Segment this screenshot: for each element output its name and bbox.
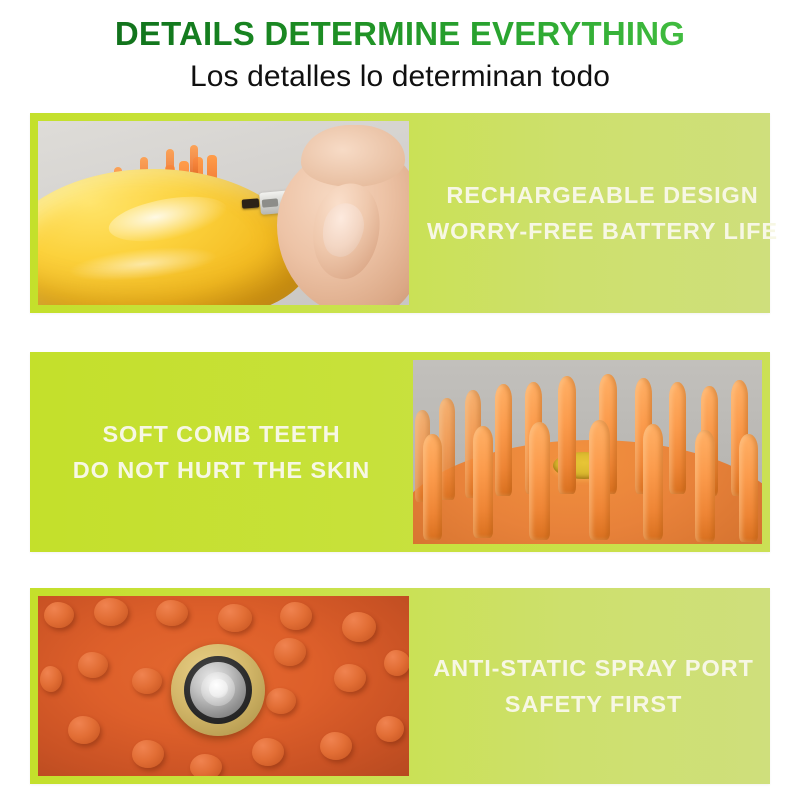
feature-panel-spray-port: ANTI-STATIC SPRAY PORT SAFETY FIRST — [30, 588, 770, 784]
comb-tooth — [739, 434, 758, 542]
silicone-nub — [266, 688, 296, 714]
silicone-nub — [384, 650, 409, 676]
silicone-nub — [132, 740, 164, 768]
silicone-nub — [132, 668, 162, 694]
silicone-nub — [334, 664, 366, 692]
caption-line: SAFETY FIRST — [505, 686, 683, 722]
caption-soft-teeth: SOFT COMB TEETH DO NOT HURT THE SKIN — [30, 352, 413, 552]
caption-line: DO NOT HURT THE SKIN — [73, 452, 370, 488]
silicone-nub — [376, 716, 404, 742]
silicone-nub — [94, 598, 128, 626]
comb-tooth — [529, 422, 550, 540]
caption-spray-port: ANTI-STATIC SPRAY PORT SAFETY FIRST — [417, 588, 770, 784]
caption-line: RECHARGEABLE DESIGN — [446, 177, 758, 213]
silicone-nub — [342, 612, 376, 642]
caption-rechargeable: RECHARGEABLE DESIGN WORRY-FREE BATTERY L… — [417, 113, 788, 313]
comb-tooth — [473, 426, 493, 538]
comb-tooth — [589, 420, 610, 540]
photo-usb-charging — [38, 121, 409, 305]
silicone-nub — [44, 602, 74, 628]
finger — [301, 125, 405, 187]
silicone-nub — [218, 604, 252, 632]
page-title: DETAILS DETERMINE EVERYTHING — [0, 14, 800, 54]
product-infographic: DETAILS DETERMINE EVERYTHING Los detalle… — [0, 0, 800, 800]
spray-nozzle-hole — [209, 679, 228, 698]
caption-line: SOFT COMB TEETH — [102, 416, 340, 452]
usb-charging-port — [242, 198, 260, 208]
caption-line: ANTI-STATIC SPRAY PORT — [433, 650, 754, 686]
silicone-nub — [78, 652, 108, 678]
comb-tooth — [695, 430, 715, 542]
silicone-nub — [68, 716, 100, 744]
comb-tooth — [423, 434, 442, 540]
silicone-nub — [280, 602, 312, 630]
silicone-nub — [190, 754, 222, 776]
silicone-nub — [252, 738, 284, 766]
comb-tooth — [495, 384, 512, 496]
header: DETAILS DETERMINE EVERYTHING Los detalle… — [0, 0, 800, 97]
photo-spray-port — [38, 596, 409, 776]
feature-panel-rechargeable: RECHARGEABLE DESIGN WORRY-FREE BATTERY L… — [30, 113, 770, 313]
photo-comb-teeth — [413, 360, 762, 544]
comb-tooth — [558, 376, 576, 494]
silicone-nub — [40, 666, 62, 692]
caption-line: WORRY-FREE BATTERY LIFE — [427, 213, 778, 249]
silicone-nub — [156, 600, 188, 626]
comb-tooth — [643, 424, 663, 540]
silicone-nub — [320, 732, 352, 760]
comb-tooth — [669, 382, 686, 494]
page-subtitle: Los detalles lo determinan todo — [0, 57, 800, 97]
silicone-nub — [274, 638, 306, 666]
feature-panel-soft-teeth: SOFT COMB TEETH DO NOT HURT THE SKIN — [30, 352, 770, 552]
